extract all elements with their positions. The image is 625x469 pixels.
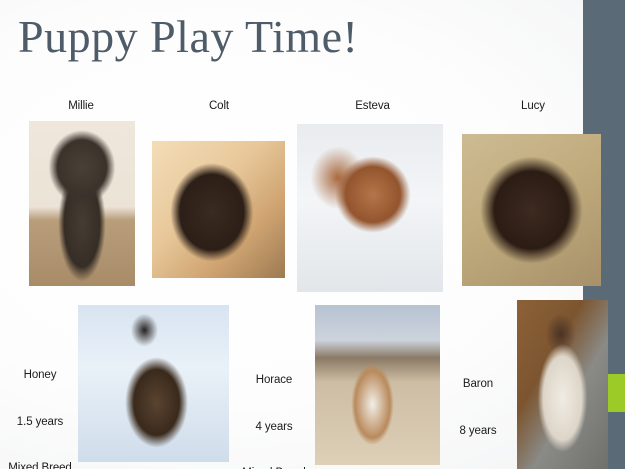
photo-baron[interactable] xyxy=(517,300,608,469)
dog-name-baron: Baron xyxy=(440,377,516,393)
dog-name-lucy: Lucy xyxy=(477,99,589,115)
page-title: Puppy Play Time! xyxy=(18,11,358,63)
caption-baron: Baron 8 years Rat Terrier xyxy=(440,346,516,469)
photo-esteva-image xyxy=(297,124,443,292)
photo-lucy-image xyxy=(462,134,601,286)
dog-name-millie: Millie xyxy=(26,99,136,115)
photo-lucy[interactable] xyxy=(462,134,601,286)
photo-colt-image xyxy=(152,141,285,278)
green-accent-block xyxy=(608,374,625,412)
dog-name-esteva: Esteva xyxy=(310,99,435,115)
photo-baron-image xyxy=(517,300,608,469)
dog-name-honey: Honey xyxy=(2,368,78,384)
dog-name-horace: Horace xyxy=(234,373,314,389)
photo-horace-image xyxy=(315,305,440,465)
dog-age-horace: 4 years xyxy=(234,420,314,436)
dog-age-honey: 1.5 years xyxy=(2,415,78,431)
dog-name-colt: Colt xyxy=(160,99,278,115)
caption-honey: Honey 1.5 years Mixed Breed Rescue xyxy=(2,337,78,469)
slide-canvas: Puppy Play Time! Millie 8 months Great D… xyxy=(0,0,625,469)
photo-millie[interactable] xyxy=(29,121,135,286)
photo-honey-image xyxy=(78,305,229,462)
photo-colt[interactable] xyxy=(152,141,285,278)
caption-horace: Horace 4 years Mixed Breed Rescue xyxy=(234,342,314,469)
dog-breed-honey: Mixed Breed xyxy=(2,461,78,469)
dog-age-baron: 8 years xyxy=(440,424,516,440)
photo-horace[interactable] xyxy=(315,305,440,465)
photo-millie-image xyxy=(29,121,135,286)
photo-esteva[interactable] xyxy=(297,124,443,292)
photo-honey[interactable] xyxy=(78,305,229,462)
